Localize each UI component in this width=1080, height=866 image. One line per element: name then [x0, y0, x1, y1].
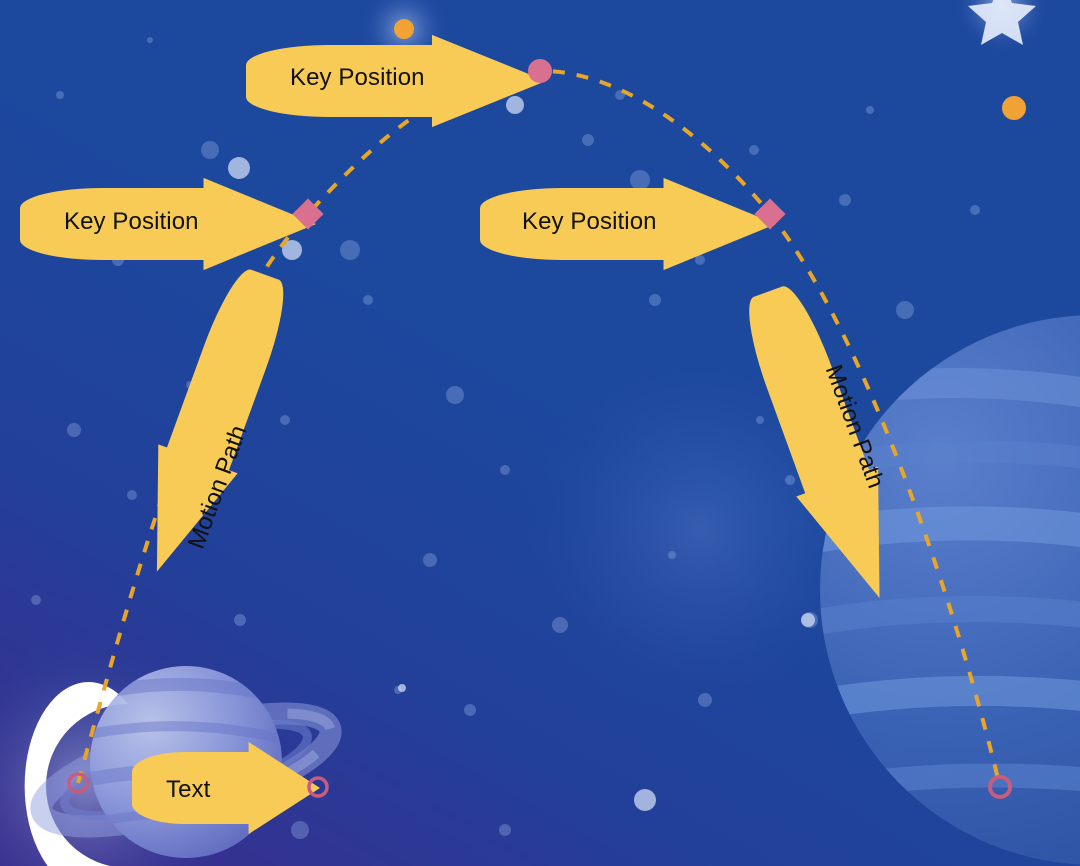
diagram-canvas: Key Position Key Position Key Position M… — [0, 0, 1080, 866]
marker-apex-icon[interactable] — [528, 59, 552, 83]
marker-key-left-icon[interactable] — [292, 198, 323, 229]
marker-layer — [0, 0, 1080, 866]
marker-start-icon[interactable] — [69, 774, 87, 792]
marker-key-right-icon[interactable] — [754, 198, 785, 229]
marker-text-ref-icon[interactable] — [309, 778, 327, 796]
marker-end-icon[interactable] — [990, 777, 1010, 797]
